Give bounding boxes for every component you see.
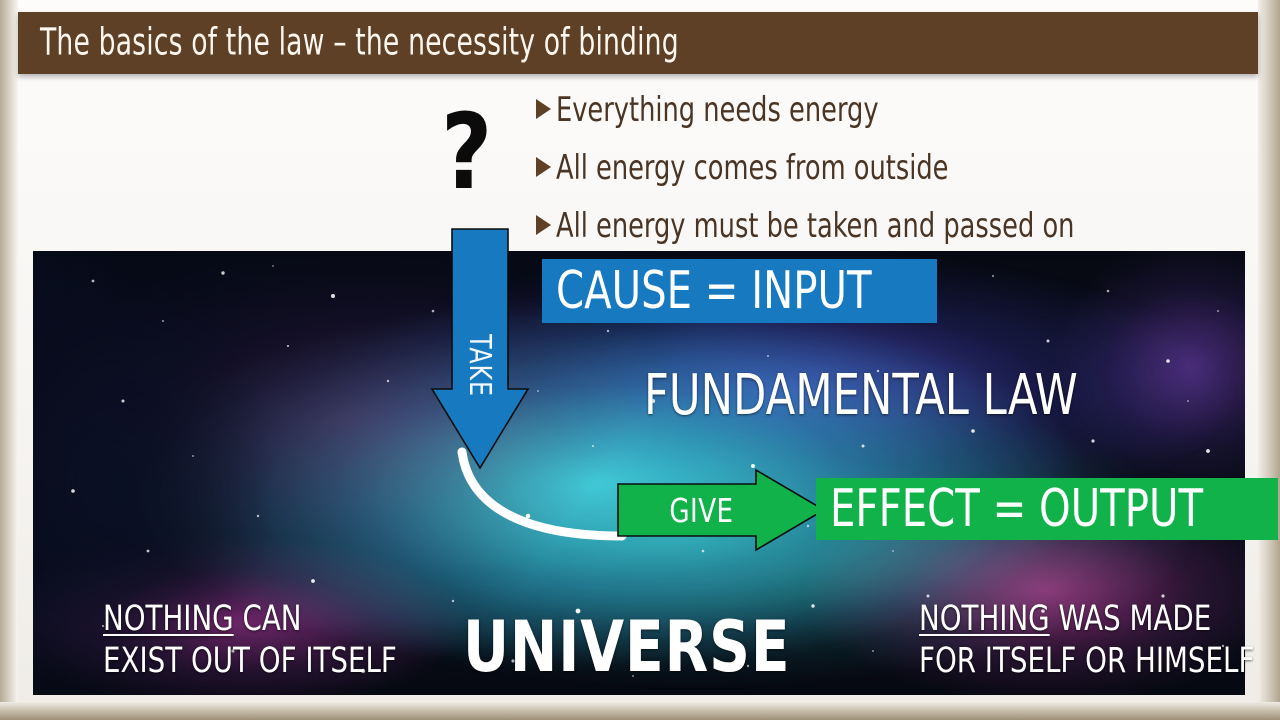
right-caption-line2: FOR ITSELF OR HIMSELF <box>919 640 1280 682</box>
page-title: The basics of the law – the necessity of… <box>40 21 679 64</box>
triangle-right-icon <box>536 157 551 177</box>
presentation-slide: The basics of the law – the necessity of… <box>0 0 1280 720</box>
give-arrow: GIVE <box>618 470 824 550</box>
list-item: Everything needs energy <box>536 86 1236 144</box>
take-arrow: TAKE <box>432 229 528 468</box>
question-mark-glyph: ? <box>441 100 492 204</box>
slide-bottom-edge <box>0 702 1280 720</box>
right-caption-line1: NOTHING WAS MADE <box>919 598 1280 640</box>
slide-left-edge <box>0 0 18 720</box>
left-caption-line2-text: EXIST OUT OF ITSELF <box>103 640 397 682</box>
fundamental-law-label: FUNDAMENTAL LAW <box>644 363 1078 428</box>
effect-output-label: EFFECT = OUTPUT <box>830 479 1203 539</box>
left-caption-line2: EXIST OUT OF ITSELF <box>103 640 437 682</box>
fundamental-law-caption: FUNDAMENTAL LAW <box>644 363 1148 428</box>
slide-title-bar: The basics of the law – the necessity of… <box>18 12 1258 74</box>
right-caption-underlined: NOTHING <box>919 599 1050 639</box>
left-caption-line1: NOTHING CAN <box>103 598 437 640</box>
right-caption-line2-text: FOR ITSELF OR HIMSELF <box>919 640 1254 682</box>
left-caption: NOTHING CAN EXIST OUT OF ITSELF <box>103 598 437 682</box>
cause-input-label: CAUSE = INPUT <box>556 261 872 321</box>
triangle-right-icon <box>536 215 551 235</box>
left-caption-rest: CAN <box>234 599 302 639</box>
right-caption: NOTHING WAS MADE FOR ITSELF OR HIMSELF <box>919 598 1280 682</box>
bullet-label: All energy comes from outside <box>556 144 949 192</box>
effect-output-banner: EFFECT = OUTPUT <box>816 478 1278 540</box>
list-item: All energy comes from outside <box>536 144 1236 202</box>
bullet-label: Everything needs energy <box>556 86 879 134</box>
universe-label: UNIVERSE <box>463 606 791 688</box>
bullet-label: All energy must be taken and passed on <box>556 202 1074 250</box>
left-caption-underlined: NOTHING <box>103 599 234 639</box>
cause-input-banner: CAUSE = INPUT <box>542 259 937 323</box>
bullet-list: Everything needs energy All energy comes… <box>536 86 1236 260</box>
triangle-right-icon <box>536 99 551 119</box>
universe-caption: UNIVERSE <box>463 606 827 688</box>
right-caption-rest: WAS MADE <box>1050 599 1212 639</box>
